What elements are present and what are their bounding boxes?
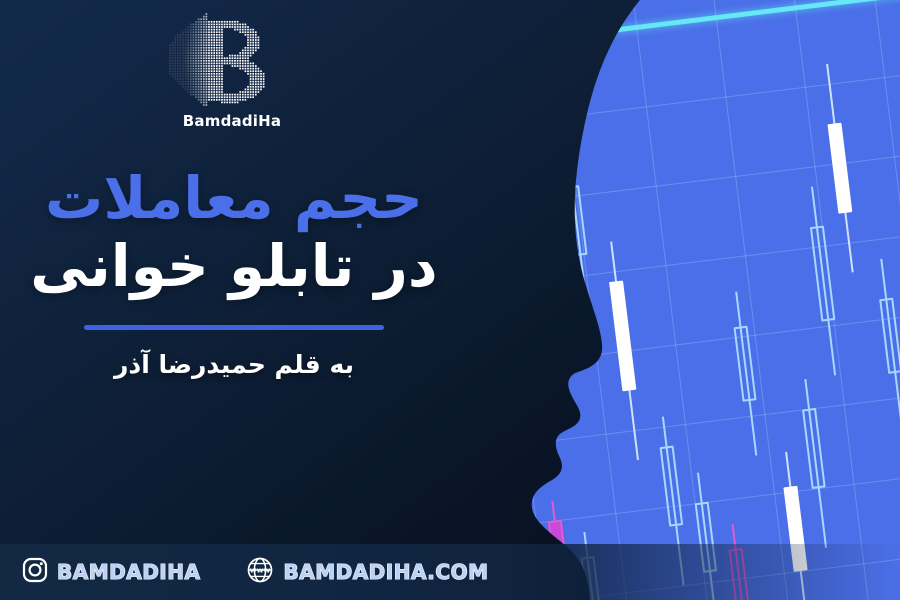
globe-www-icon: www bbox=[246, 556, 274, 588]
candlestick bbox=[471, 356, 501, 489]
halftone-b-logo-icon bbox=[168, 6, 296, 114]
candlestick bbox=[555, 106, 593, 301]
brand-logo: BamdadiHa bbox=[168, 6, 296, 138]
candlestick bbox=[507, 414, 539, 565]
svg-text:www: www bbox=[250, 566, 271, 575]
headline-line-1: حجم معاملات bbox=[24, 168, 444, 229]
candlestick-chart-panel bbox=[388, 0, 900, 600]
instagram-handle[interactable]: BAMDADIHA bbox=[22, 557, 200, 587]
candlestick bbox=[729, 291, 763, 456]
headline-divider bbox=[84, 325, 384, 330]
cyan-highlight-line bbox=[388, 0, 900, 62]
candlestick bbox=[798, 378, 833, 548]
candlestick bbox=[820, 63, 859, 273]
website-link[interactable]: www BAMDADIHA.COM bbox=[246, 556, 488, 588]
footer-bar: BAMDADIHA www BAMDADIHA.COM bbox=[0, 544, 900, 600]
chart-gridline-v bbox=[468, 0, 557, 600]
candlestick bbox=[805, 186, 842, 376]
candlestick bbox=[874, 258, 900, 428]
author-byline: به قلم حمیدرضا آذر bbox=[24, 350, 444, 379]
candlestick bbox=[604, 241, 645, 461]
headline-block: حجم معاملات در تابلو خوانی به قلم حمیدرض… bbox=[24, 168, 444, 379]
headline-line-2: در تابلو خوانی bbox=[24, 235, 444, 299]
banner-canvas: BamdadiHa حجم معاملات در تابلو خوانی به … bbox=[0, 0, 900, 600]
instagram-icon bbox=[22, 557, 48, 587]
brand-logo-text: BamdadiHa bbox=[168, 112, 296, 130]
instagram-label: BAMDADIHA bbox=[57, 560, 200, 584]
website-label: BAMDADIHA.COM bbox=[283, 560, 488, 584]
